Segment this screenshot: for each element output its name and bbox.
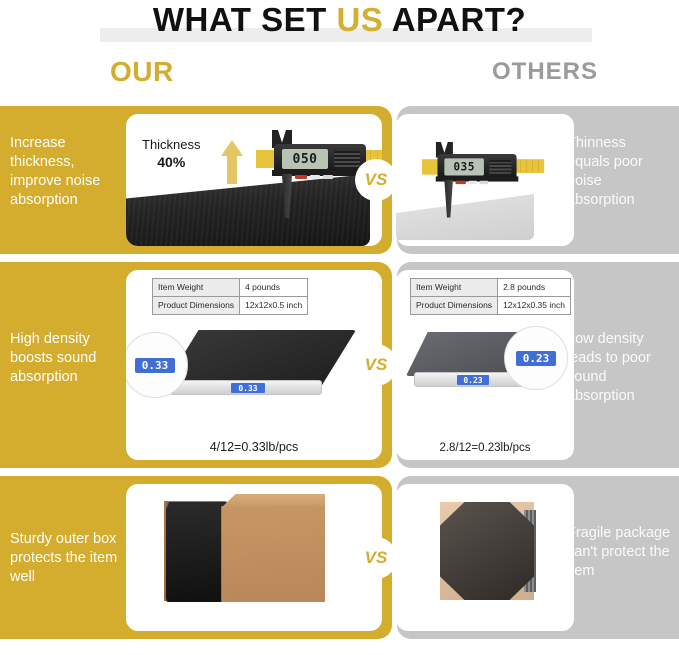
vs-badge-row2: VS xyxy=(355,344,397,386)
magnified-scale-reading-others: 0.23 xyxy=(516,351,556,366)
vs-badge-row1: VS xyxy=(355,159,397,201)
row1-others-image: 035 xyxy=(396,114,574,246)
table-row: Product Dimensions 12x12x0.5 inch xyxy=(153,297,308,315)
thickness-annotation-label: Thickness xyxy=(142,136,201,153)
comparison-row-thickness: Increase thickness, improve noise absorp… xyxy=(0,106,679,254)
weighing-scale-ours: 0.33 xyxy=(170,380,322,395)
table-row: Item Weight 2.8 pounds xyxy=(411,279,571,297)
calculation-caption-others: 2.8/12=0.23lb/pcs xyxy=(396,442,574,454)
title-part-1: WHAT SET xyxy=(153,1,337,38)
column-header-ours: OUR xyxy=(110,56,174,88)
plastic-wrapped-product xyxy=(166,502,228,602)
row2-ours-image: Item Weight 4 pounds Product Dimensions … xyxy=(126,270,382,460)
comparison-row-density: High density boosts sound absorption Low… xyxy=(0,262,679,468)
row1-others-label: Thinness equals poor noise absorption xyxy=(567,134,671,210)
spec-value: 12x12x0.35 inch xyxy=(498,297,571,315)
row1-ours-label: Increase thickness, improve noise absorp… xyxy=(10,134,128,210)
column-headers: OUR OTHERS xyxy=(0,48,679,106)
spec-value: 12x12x0.5 inch xyxy=(240,297,308,315)
thickness-annotation-value: 40% xyxy=(142,153,201,171)
column-header-others: OTHERS xyxy=(492,58,598,86)
spec-value: 2.8 pounds xyxy=(498,279,571,297)
spec-value: 4 pounds xyxy=(240,279,308,297)
row3-ours-label: Sturdy outer box protects the item well xyxy=(10,530,128,587)
spec-table-ours: Item Weight 4 pounds Product Dimensions … xyxy=(152,278,308,315)
title-part-2: APART? xyxy=(383,1,526,38)
row3-others-label: Fragile package can't protect the item xyxy=(567,524,671,581)
spec-key: Product Dimensions xyxy=(411,297,498,315)
comparison-infographic: WHAT SET US APART? OUR OTHERS Increase t… xyxy=(0,0,679,655)
magnified-scale-reading-ours: 0.33 xyxy=(135,358,175,373)
caliper-reading-ours: 050 xyxy=(282,149,328,169)
title-highlight: US xyxy=(336,1,383,38)
row3-ours-image xyxy=(126,484,382,631)
magnifier-others: 0.23 xyxy=(504,326,568,390)
scale-display-others: 0.23 xyxy=(457,375,489,385)
unprotected-foam-panel xyxy=(440,502,534,600)
table-row: Product Dimensions 12x12x0.35 inch xyxy=(411,297,571,315)
comparison-row-packaging: Sturdy outer box protects the item well … xyxy=(0,476,679,639)
spec-key: Product Dimensions xyxy=(153,297,240,315)
scale-display-ours: 0.33 xyxy=(231,383,265,393)
spec-table-others: Item Weight 2.8 pounds Product Dimension… xyxy=(410,278,571,315)
row2-others-image: Item Weight 2.8 pounds Product Dimension… xyxy=(396,270,574,460)
digital-caliper-others: 035 xyxy=(422,142,548,221)
calculation-caption-ours: 4/12=0.33lb/pcs xyxy=(126,440,382,454)
spec-key: Item Weight xyxy=(411,279,498,297)
spec-key: Item Weight xyxy=(153,279,240,297)
row3-others-image xyxy=(396,484,574,631)
row1-ours-image: Thickness 40% 050 xyxy=(126,114,382,246)
page-title: WHAT SET US APART? xyxy=(0,0,679,40)
header: WHAT SET US APART? xyxy=(0,0,679,48)
vs-badge-row3: VS xyxy=(355,537,397,579)
table-row: Item Weight 4 pounds xyxy=(153,279,308,297)
row2-ours-label: High density boosts sound absorption xyxy=(10,330,128,387)
caliper-reading-others: 035 xyxy=(444,158,484,175)
carton-seam xyxy=(221,506,222,602)
upward-arrow-icon xyxy=(219,138,245,186)
cardboard-carton xyxy=(221,506,325,602)
thickness-annotation: Thickness 40% xyxy=(142,136,201,171)
foam-plate-ours xyxy=(164,330,356,386)
row2-others-label: Low density leads to poor sound absorpti… xyxy=(567,330,671,406)
